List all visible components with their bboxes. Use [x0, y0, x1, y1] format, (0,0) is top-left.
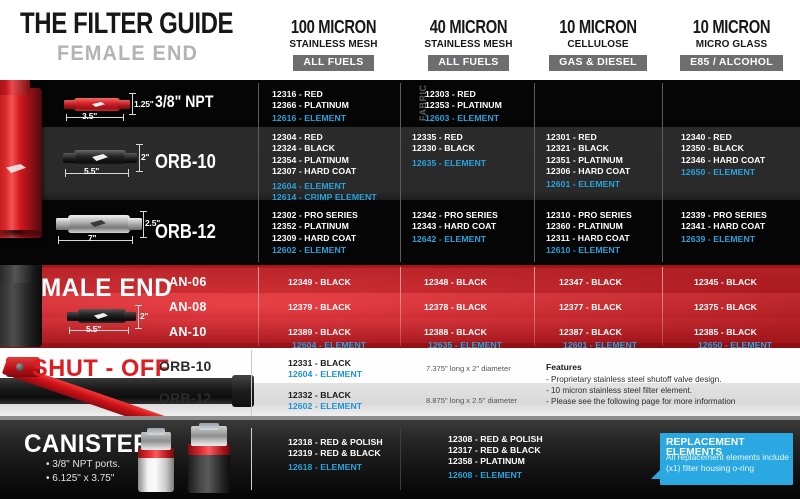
row-label-an08: AN-08 — [169, 300, 207, 314]
part-number: 12352 - PLATINUM — [272, 221, 358, 232]
part-number: 12308 - RED & POLISH — [448, 434, 543, 444]
npt-diameter-dim: 1.25" — [134, 99, 154, 109]
cell-orb10-col3: 12301 - RED 12321 - BLACK 12351 - PLATIN… — [546, 132, 630, 190]
column-1-micron: 100 MICRON — [279, 18, 388, 36]
canister-bullet: • 6.125" x 3.75" — [46, 473, 114, 484]
row-label-orb10: ORB-10 — [155, 151, 216, 174]
element-part-number-col2: 12635 - ELEMENT — [428, 340, 502, 348]
part-number: 12340 - RED — [681, 132, 765, 143]
column-4-micron: 10 MICRON — [675, 18, 787, 36]
element-part-number: 12639 - ELEMENT — [681, 234, 767, 245]
cell-orb10-col4: 12340 - RED 12350 - BLACK 12346 - HARD C… — [681, 132, 765, 179]
element-part-number: 12604 - ELEMENT — [288, 369, 362, 379]
npt-length-dim: 3.5" — [82, 111, 97, 121]
part-number: 12301 - RED — [546, 132, 630, 143]
section-title-female-end: FEMALE END — [57, 43, 198, 64]
part-number: 12354 - PLATINUM — [272, 155, 377, 166]
row-label-an10: AN-10 — [169, 325, 207, 339]
element-part-number-col4: 12650 - ELEMENT — [698, 340, 772, 348]
part-number: 12351 - PLATINUM — [546, 155, 630, 166]
part-number: 12332 - BLACK — [288, 390, 351, 400]
element-part-number: 12603 - ELEMENT — [425, 113, 502, 124]
female-end-section: 3.5" 1.25" 3/8" NPT 12316 - RED 12366 - … — [0, 80, 800, 265]
column-divider-4 — [662, 267, 663, 346]
column-1-media: STAINLESS MESH — [270, 39, 396, 50]
part-number: 12353 - PLATINUM — [425, 100, 502, 111]
column-header-3: 10 MICRON CELLULOSE GAS & DIESEL — [533, 18, 663, 71]
part-number: 12358 - PLATINUM — [448, 456, 525, 466]
part-number: 12341 - HARD COAT — [681, 221, 767, 232]
cell-orb12-col3: 12310 - PRO SERIES 12360 - PLATINUM 1231… — [546, 210, 632, 257]
orb10-diameter-dim: 2" — [141, 152, 149, 162]
part-number: 12307 - HARD COAT — [272, 166, 377, 177]
part-number: 12339 - PRO SERIES — [681, 210, 767, 221]
part-number: 12310 - PRO SERIES — [546, 210, 632, 221]
cell-an06-col2: 12348 - BLACK — [424, 277, 487, 287]
element-part-number-col1: 12604 - ELEMENT — [292, 340, 366, 348]
column-divider-2 — [400, 83, 401, 262]
cell-orb12-col4: 12339 - PRO SERIES 12341 - HARD COAT 126… — [681, 210, 767, 245]
column-header-4: 10 MICRON MICRO GLASS E85 / ALCOHOL — [663, 18, 800, 71]
page-title: THE FILTER GUIDE — [20, 9, 233, 39]
element-part-number: 12608 - ELEMENT — [448, 470, 522, 480]
part-number: 12331 - BLACK — [288, 358, 351, 368]
cell-an10-col2: 12388 - BLACK — [424, 327, 487, 337]
element-part-number: 12604 - ELEMENT — [272, 181, 377, 192]
part-number: 12346 - HARD COAT — [681, 155, 765, 166]
product-photo-orb12: 7" 2.5" — [50, 205, 160, 253]
section-title-shut-off: SHUT - OFF — [32, 355, 170, 383]
part-number: 12350 - BLACK — [681, 143, 765, 154]
column-4-media: MICRO GLASS — [666, 39, 796, 50]
row-label-shutoff-orb10: ORB-10 — [159, 358, 212, 374]
part-number: 12303 - RED — [425, 89, 502, 100]
element-part-number: 12602 - ELEMENT — [288, 401, 362, 411]
orb12-length-dim: 7" — [88, 233, 96, 243]
orb10-length-dim: 5.5" — [84, 166, 99, 176]
feature-item: - Please see the following page for more… — [546, 397, 735, 406]
cell-an06-col4: 12345 - BLACK — [694, 277, 757, 287]
column-divider-3 — [534, 83, 535, 262]
part-number: 12335 - RED — [412, 132, 486, 143]
features-heading: Features — [546, 362, 582, 372]
column-divider-1 — [258, 83, 259, 262]
product-photo-orb10: 5.5" 2" — [58, 135, 158, 185]
part-number: 12360 - PLATINUM — [546, 221, 632, 232]
row-label-shutoff-orb12: ORB-12 — [159, 390, 212, 406]
filter-guide-sheet: THE FILTER GUIDE FEMALE END 100 MICRON S… — [0, 0, 800, 499]
element-part-number-col3: 12601 - ELEMENT — [563, 340, 637, 348]
cell-an08-col3: 12377 - BLACK — [559, 302, 622, 312]
cell-orb10-col1: 12304 - RED 12324 - BLACK 12354 - PLATIN… — [272, 132, 377, 203]
part-number: 12324 - BLACK — [272, 143, 377, 154]
part-number: 12302 - PRO SERIES — [272, 210, 358, 221]
part-number: 12311 - HARD COAT — [546, 233, 632, 244]
male-end-section: MALE END 5.5" 2" AN-06 AN-08 AN-10 12349… — [0, 265, 800, 348]
column-1-fuel-chip: ALL FUELS — [293, 55, 373, 71]
element-part-number: 12601 - ELEMENT — [546, 179, 630, 190]
canister-divider — [251, 428, 252, 490]
cell-an08-col4: 12375 - BLACK — [694, 302, 757, 312]
cell-an10-col1: 12389 - BLACK — [288, 327, 351, 337]
cell-npt-col1: 12316 - RED 12366 - PLATINUM 12616 - ELE… — [272, 89, 349, 124]
an-length-dim: 5.5" — [86, 324, 101, 334]
element-part-number: 12602 - ELEMENT — [272, 245, 358, 256]
element-part-number: 12616 - ELEMENT — [272, 113, 349, 124]
feature-item: - 10 micron stainless steel filter eleme… — [546, 386, 692, 395]
column-3-fuel-chip: GAS & DIESEL — [549, 55, 647, 71]
cell-an10-col3: 12387 - BLACK — [559, 327, 622, 337]
canister-photo-black — [178, 423, 244, 495]
cell-an06-col1: 12349 - BLACK — [288, 277, 351, 287]
column-2-fuel-chip: ALL FUELS — [428, 55, 508, 71]
canister-section: CANISTER • 3/8" NPT ports. • 6.125" x 3.… — [0, 420, 800, 499]
section-title-male-end: MALE END — [41, 274, 172, 303]
cell-an08-col1: 12379 - BLACK — [288, 302, 351, 312]
canister-divider-2 — [400, 428, 401, 490]
part-number: 12316 - RED — [272, 89, 349, 100]
cell-npt-col2: 12303 - RED 12353 - PLATINUM 12603 - ELE… — [425, 89, 502, 124]
element-part-number: 12642 - ELEMENT — [412, 234, 498, 245]
cell-an06-col3: 12347 - BLACK — [559, 277, 622, 287]
column-3-media: CELLULOSE — [536, 39, 660, 50]
red-canister-photo — [0, 80, 50, 265]
row-label-npt: 3/8" NPT — [155, 92, 213, 112]
column-header-2: 40 MICRON STAINLESS MESH ALL FUELS — [402, 18, 535, 71]
column-divider-1 — [258, 267, 259, 346]
column-divider-3 — [534, 267, 535, 346]
element-part-number: 12610 - ELEMENT — [546, 245, 632, 256]
row-label-an06: AN-06 — [169, 275, 207, 289]
element-part-number: 12635 - ELEMENT — [412, 158, 486, 169]
part-number: 12309 - HARD COAT — [272, 233, 358, 244]
row-label-orb12: ORB-12 — [155, 221, 216, 244]
canister-bullet: • 3/8" NPT ports. — [46, 459, 120, 470]
shut-off-section: SHUT - OFF ORB-10 ORB-12 12331 - BLACK 1… — [0, 348, 800, 420]
cell-orb10-col2: 12335 - RED 12330 - BLACK 12635 - ELEMEN… — [412, 132, 486, 169]
product-photo-npt: 3.5" 1.25" — [60, 89, 150, 119]
cell-an08-col2: 12378 - BLACK — [424, 302, 487, 312]
header: THE FILTER GUIDE FEMALE END 100 MICRON S… — [0, 0, 800, 80]
part-number: 12317 - RED & BLACK — [448, 445, 541, 455]
element-part-number: 12618 - ELEMENT — [288, 462, 362, 472]
column-2-media: STAINLESS MESH — [405, 39, 531, 50]
product-photo-an: 5.5" 2" — [62, 303, 162, 345]
column-divider-2 — [400, 267, 401, 346]
part-number: 12321 - BLACK — [546, 143, 630, 154]
part-number: 12318 - RED & POLISH — [288, 437, 383, 447]
replacement-callout-body: All replacement elements include (x1) fi… — [666, 452, 790, 473]
element-part-number: 12650 - ELEMENT — [681, 167, 765, 178]
shutoff-orb10-dimensions: 7.375" long x 2" diameter — [426, 364, 511, 373]
column-header-1: 100 MICRON STAINLESS MESH ALL FUELS — [267, 18, 400, 71]
column-divider-4 — [662, 83, 663, 262]
column-4-fuel-chip: E85 / ALCOHOL — [680, 55, 783, 71]
part-number: 12304 - RED — [272, 132, 377, 143]
part-number: 12342 - PRO SERIES — [412, 210, 498, 221]
shutoff-divider — [251, 350, 252, 416]
an-diameter-dim: 2" — [140, 311, 148, 321]
part-number: 12319 - RED & BLACK — [288, 448, 381, 458]
cell-an10-col4: 12385 - BLACK — [694, 327, 757, 337]
part-number: 12343 - HARD COAT — [412, 221, 498, 232]
part-number: 12366 - PLATINUM — [272, 100, 349, 111]
column-3-micron: 10 MICRON — [545, 18, 652, 36]
element-part-number: 12614 - CRIMP ELEMENT — [272, 192, 377, 203]
part-number: 12306 - HARD COAT — [546, 166, 630, 177]
feature-item: - Proprietary stainless steel shutoff va… — [546, 375, 722, 384]
column-2-micron: 40 MICRON — [414, 18, 523, 36]
shutoff-orb12-dimensions: 8.875" long x 2.5" diameter — [426, 396, 517, 405]
part-number: 12330 - BLACK — [412, 143, 486, 154]
cell-orb12-col1: 12302 - PRO SERIES 12352 - PLATINUM 1230… — [272, 210, 358, 257]
replacement-elements-callout: REPLACEMENT ELEMENTS All replacement ele… — [660, 433, 793, 485]
cell-orb12-col2: 12342 - PRO SERIES 12343 - HARD COAT 126… — [412, 210, 498, 245]
